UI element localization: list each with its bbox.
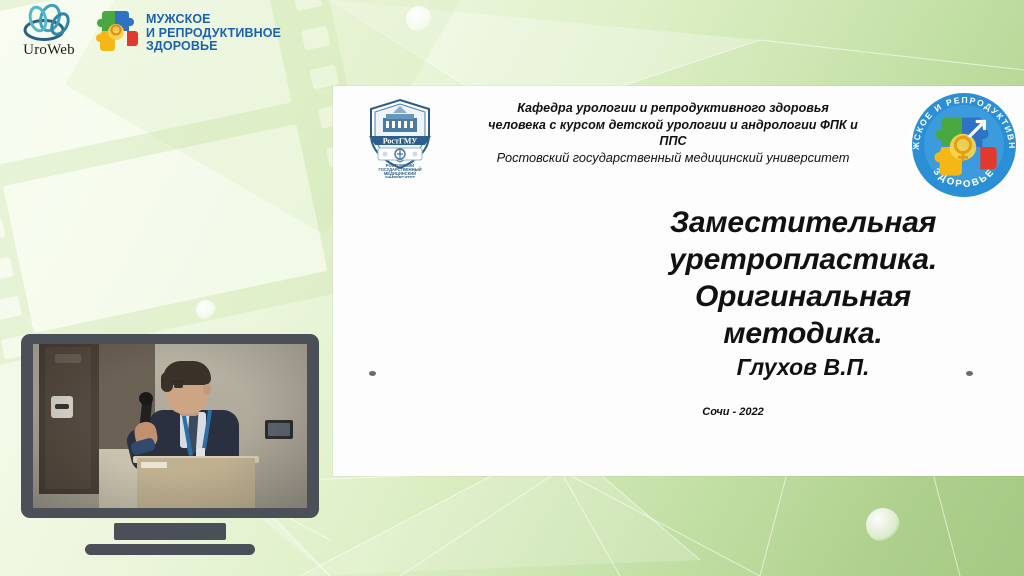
title-line-2: уретропластика. xyxy=(633,241,973,278)
rostgmu-shield-icon: РостГМУ РОСТОВСКИЙ ГОСУДАРСТВЕННЫЙ МЕДИЦ… xyxy=(366,98,434,178)
monitor-stand-base xyxy=(85,544,255,555)
monitor-stand-neck xyxy=(114,523,226,540)
svg-text:УНИВЕРСИТЕТ: УНИВЕРСИТЕТ xyxy=(385,175,416,178)
uroweb-ribbon-icon xyxy=(20,4,78,44)
mrz-brand-text: МУЖСКОЕ И РЕПРОДУКТИВНОЕ ЗДОРОВЬЕ xyxy=(146,13,281,54)
glow-dot-1 xyxy=(406,6,432,32)
header-line-1: Кафедра урологии и репродуктивного здоро… xyxy=(453,100,893,117)
slide-header-text: Кафедра урологии и репродуктивного здоро… xyxy=(453,100,893,166)
glow-dot-3 xyxy=(866,508,900,542)
title-line-3: Оригинальная xyxy=(633,278,973,315)
puzzle-logo-icon xyxy=(90,8,142,58)
title-line-1: Заместительная xyxy=(633,204,973,241)
video-vignette xyxy=(33,344,307,508)
title-line-4: методика. xyxy=(633,315,973,352)
mrz-line-3: ЗДОРОВЬЕ xyxy=(146,40,281,54)
presentation-screen: UroWeb МУЖСКОЕ И РЕПРОДУКТИВНОЕ ЗДОРОВЬЕ xyxy=(0,0,1024,576)
mrz-line-2: И РЕПРОДУКТИВНОЕ xyxy=(146,27,281,41)
slide-decoration-dot-right xyxy=(966,371,973,376)
slide-author: Глухов В.П. xyxy=(633,354,973,381)
slide-title: Заместительная уретропластика. Оригиналь… xyxy=(633,204,973,352)
glow-dot-4 xyxy=(196,300,216,320)
header-logos: UroWeb МУЖСКОЕ И РЕПРОДУКТИВНОЕ ЗДОРОВЬЕ xyxy=(0,0,340,70)
header-line-3: ППС xyxy=(453,133,893,150)
slide-place-date: Сочи - 2022 xyxy=(563,406,903,418)
header-line-2: человека с курсом детской урологии и анд… xyxy=(453,117,893,134)
mens-reproductive-health-round-logo-icon: МУЖСКОЕ И РЕПРОДУКТИВНОЕ ЗДОРОВЬЕ xyxy=(905,86,1023,204)
svg-text:РостГМУ: РостГМУ xyxy=(383,137,418,146)
video-frame[interactable] xyxy=(33,344,307,508)
video-monitor[interactable] xyxy=(21,334,319,556)
slide-decoration-dot-left xyxy=(369,371,376,376)
header-line-4: Ростовский государственный медицинский у… xyxy=(453,150,893,167)
slide-header: РостГМУ РОСТОВСКИЙ ГОСУДАРСТВЕННЫЙ МЕДИЦ… xyxy=(333,86,1024,191)
uroweb-logo[interactable]: UroWeb xyxy=(12,4,86,62)
uroweb-label: UroWeb xyxy=(12,42,86,59)
mrz-line-1: МУЖСКОЕ xyxy=(146,13,281,27)
presentation-slide[interactable]: РостГМУ РОСТОВСКИЙ ГОСУДАРСТВЕННЫЙ МЕДИЦ… xyxy=(333,86,1024,476)
